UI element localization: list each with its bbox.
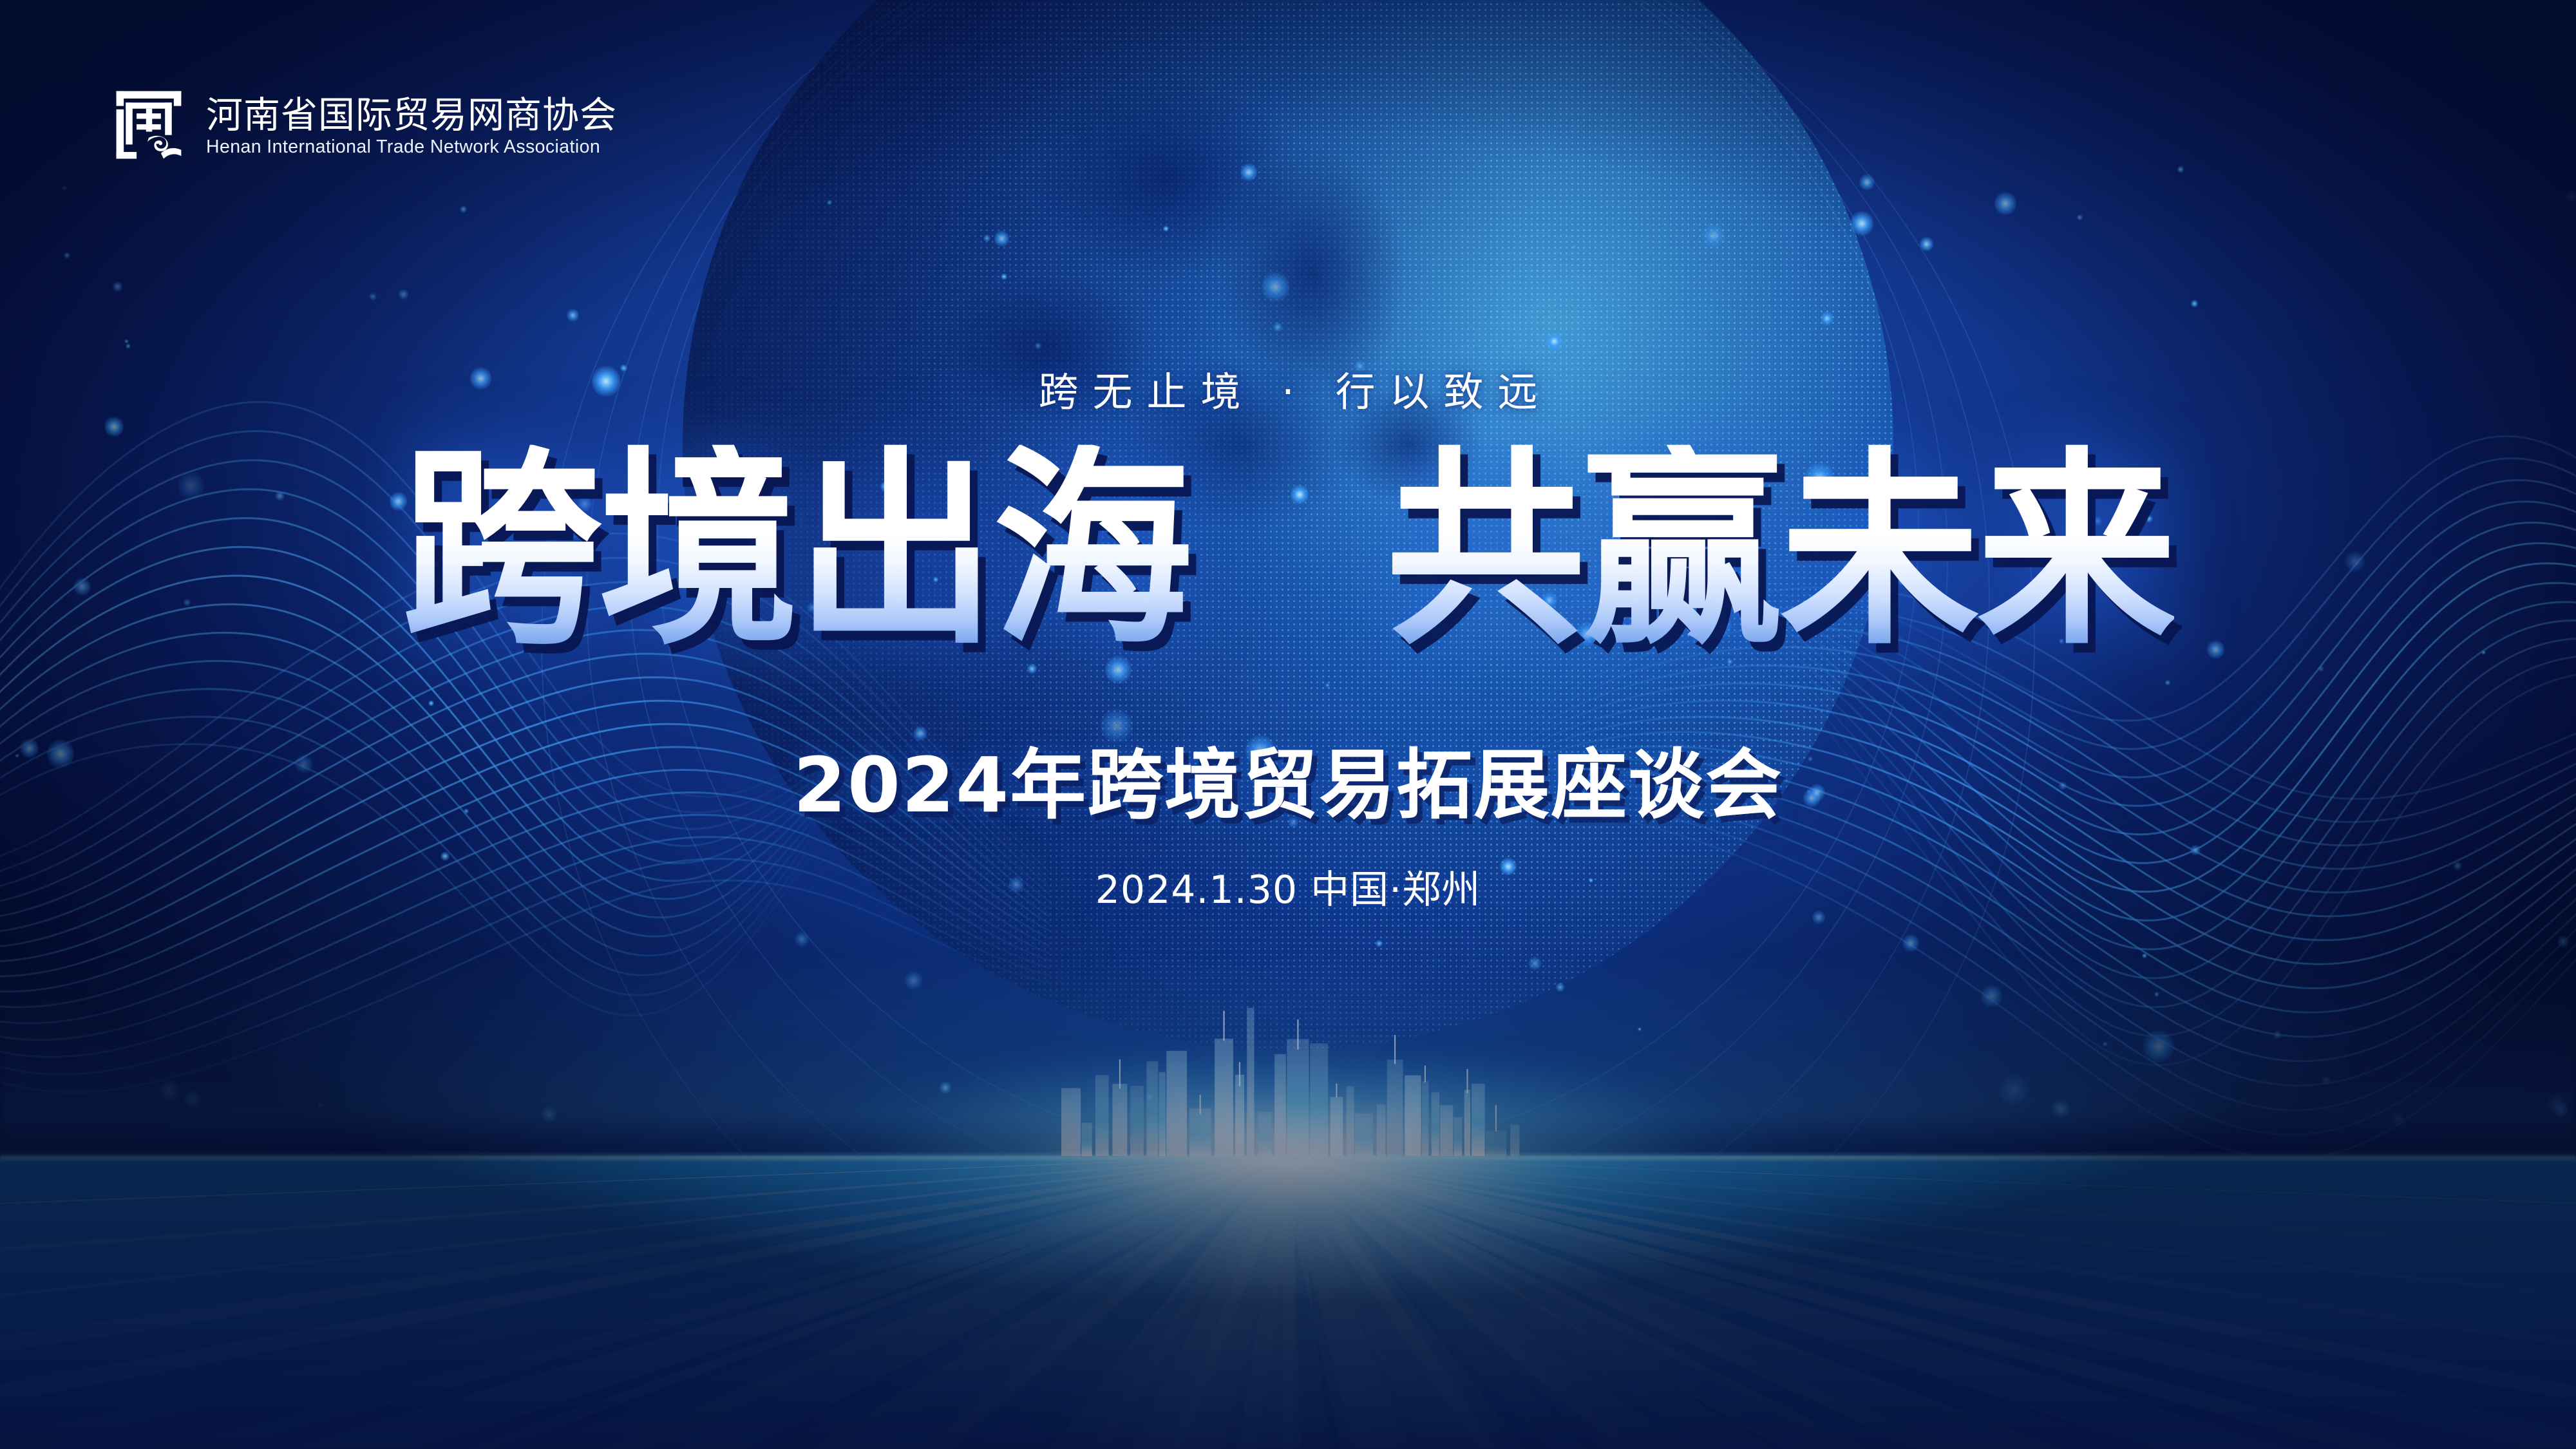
skyline-building (1472, 1084, 1485, 1156)
skyline-antenna (1336, 1084, 1337, 1097)
particle-dot (2077, 214, 2083, 221)
skyline-antenna (1394, 1035, 1396, 1064)
skyline-building (1235, 1075, 1244, 1156)
particle-dot (2190, 844, 2201, 856)
particle-dot (62, 185, 68, 191)
skyline-antenna (1224, 1010, 1225, 1040)
particle-dot (567, 308, 579, 323)
hero-headline: 跨境出海 共赢未来 (0, 451, 2576, 650)
particle-dot (440, 851, 450, 861)
skyline-building (1464, 1090, 1470, 1156)
hero-tagline: 跨无止境 · 行以致远 (0, 359, 2576, 417)
skyline-antenna (1119, 1059, 1121, 1089)
particle-dot (2191, 299, 2198, 307)
particle-dot (2557, 935, 2569, 948)
particle-dot (2318, 665, 2324, 672)
skyline-building (1422, 1081, 1429, 1156)
skyline-antenna (1495, 1105, 1497, 1132)
association-logo[interactable]: 河南省国际贸易网商协会 Henan International Trade Ne… (108, 85, 617, 166)
skyline-building (1387, 1059, 1403, 1156)
skyline-building (1258, 1112, 1272, 1156)
logo-name-cn: 河南省国际贸易网商协会 (206, 97, 617, 134)
skyline-antenna (1467, 1069, 1468, 1094)
skyline-building (1377, 1104, 1385, 1156)
skyline-building (1510, 1124, 1519, 1156)
particle-dot (2566, 189, 2576, 203)
particle-dot (124, 339, 129, 344)
skyline-building (1166, 1051, 1187, 1156)
skyline-building (1287, 1039, 1309, 1156)
skyline-building (1274, 1054, 1286, 1156)
skyline-antenna (1425, 1066, 1426, 1083)
skyline-antenna (1200, 1095, 1201, 1115)
skyline-building (1331, 1097, 1343, 1156)
skyline-antenna (1239, 1062, 1240, 1086)
skyline-building (1081, 1122, 1092, 1156)
skyline-building (1440, 1105, 1453, 1156)
skyline-building (1159, 1072, 1166, 1156)
particle-dot (2177, 166, 2184, 173)
particle-dot (460, 205, 467, 213)
banner-canvas: 河南省国际贸易网商协会 Henan International Trade Ne… (0, 0, 2576, 1449)
henan-trade-association-emblem-icon (108, 85, 189, 166)
particle-dot (2165, 679, 2170, 685)
hero-subheadline: 2024年跨境贸易拓展座谈会 (0, 747, 2576, 823)
particle-dot (104, 416, 124, 438)
headline-part-1: 跨境出海 (402, 445, 1190, 657)
skyline-building (1146, 1061, 1158, 1156)
skyline-building (1130, 1086, 1144, 1156)
particle-dot (369, 292, 377, 301)
skyline-building (1454, 1117, 1463, 1156)
skyline-building (1112, 1084, 1127, 1156)
particle-dot (1994, 191, 2016, 216)
hero-meta: 2024.1.30 中国·郑州 (0, 871, 2576, 909)
particle-dot (428, 700, 434, 706)
skyline-building (1215, 1039, 1233, 1156)
skyline-building (1405, 1075, 1421, 1156)
skyline-building (1095, 1075, 1109, 1157)
particle-dot (2481, 650, 2485, 654)
skyline-building (1310, 1043, 1328, 1156)
logo-name-en: Henan International Trade Network Associ… (206, 138, 617, 156)
headline-part-2: 共赢未来 (1386, 445, 2174, 657)
skyline-building (1486, 1130, 1507, 1156)
particle-dot (2453, 861, 2462, 871)
particle-dot (126, 343, 131, 349)
skyline-building (1355, 1113, 1373, 1156)
city-skyline (1050, 963, 1526, 1156)
skyline-antenna (1297, 1019, 1298, 1050)
skyline-building (1247, 1008, 1254, 1156)
skyline-building (1347, 1086, 1354, 1156)
particle-dot (399, 289, 409, 300)
skyline-building (1061, 1088, 1081, 1156)
particle-dot (113, 281, 123, 292)
particle-dot (64, 252, 70, 259)
skyline-building (1432, 1092, 1439, 1156)
skyline-building (1189, 1108, 1211, 1156)
